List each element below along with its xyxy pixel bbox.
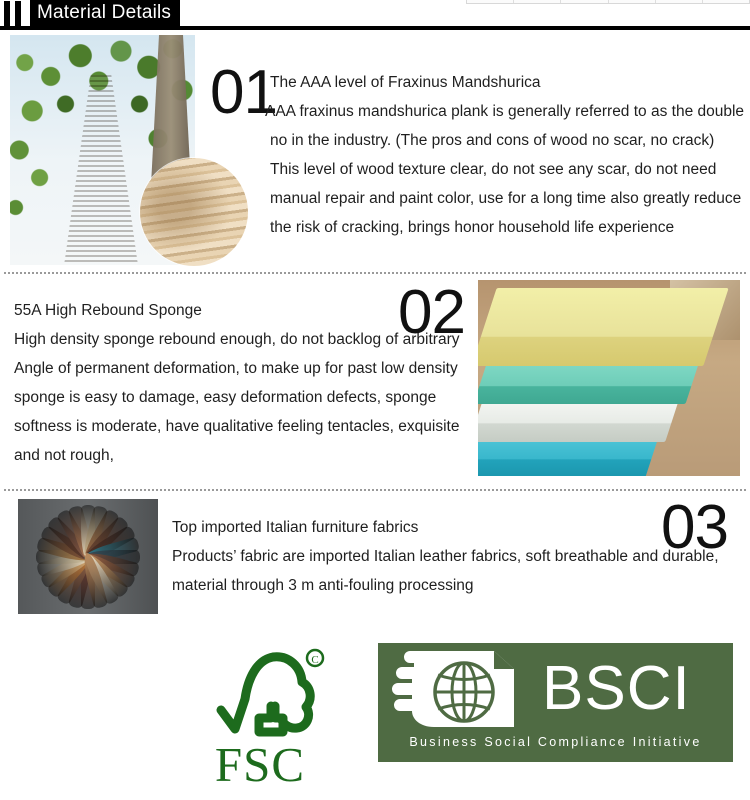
header-accent-bar-icon — [15, 1, 21, 26]
material-section-01: 01 The AAA level of Fraxinus Mandshurica… — [0, 30, 750, 272]
section-number-02: 02 — [398, 284, 465, 342]
bsci-wordmark: BSCI — [542, 658, 691, 720]
section-03-paragraph: Products’ fabric are imported Italian le… — [172, 548, 719, 594]
wood-grain-circle — [140, 158, 248, 266]
material-section-03: 03 Top imported Italian furniture fabric… — [0, 491, 750, 619]
section-01-paragraph: AAA fraxinus mandshurica plank is genera… — [265, 103, 744, 236]
fsc-logo: C FSC — [185, 644, 335, 792]
bsci-logo-main: BSCI — [378, 645, 733, 733]
section-02-paragraph: High density sponge rebound enough, do n… — [14, 331, 460, 464]
section-header: Material Details — [0, 0, 750, 30]
leather-swatch-fan-photo — [18, 499, 158, 614]
foam-sheet-cyan — [478, 436, 659, 476]
header-accent-bar-icon — [4, 1, 10, 26]
stacked-foam-sheets-photo — [478, 280, 740, 476]
section-01-heading: The AAA level of Fraxinus Mandshurica — [270, 68, 745, 97]
foam-sheet-yellow — [478, 288, 729, 366]
section-03-heading: Top imported Italian furniture fabrics — [172, 513, 732, 542]
certification-logos: C FSC — [0, 636, 750, 800]
foam-sheet-white — [478, 400, 679, 442]
section-03-text: Top imported Italian furniture fabrics P… — [172, 513, 732, 600]
page-title: Material Details — [30, 0, 180, 26]
material-section-02: 55A High Rebound Sponge High density spo… — [0, 274, 750, 489]
bsci-logo: BSCI Business Social Compliance Initiati… — [378, 643, 733, 762]
section-01-text: The AAA level of Fraxinus Mandshurica AA… — [270, 68, 745, 242]
fsc-copyright-mark: C — [311, 654, 318, 666]
foam-sheet-teal — [478, 364, 698, 404]
bsci-tagline: Business Social Compliance Initiative — [378, 735, 733, 749]
bsci-hand-globe-icon — [390, 645, 540, 733]
fsc-wordmark: FSC — [185, 739, 335, 791]
